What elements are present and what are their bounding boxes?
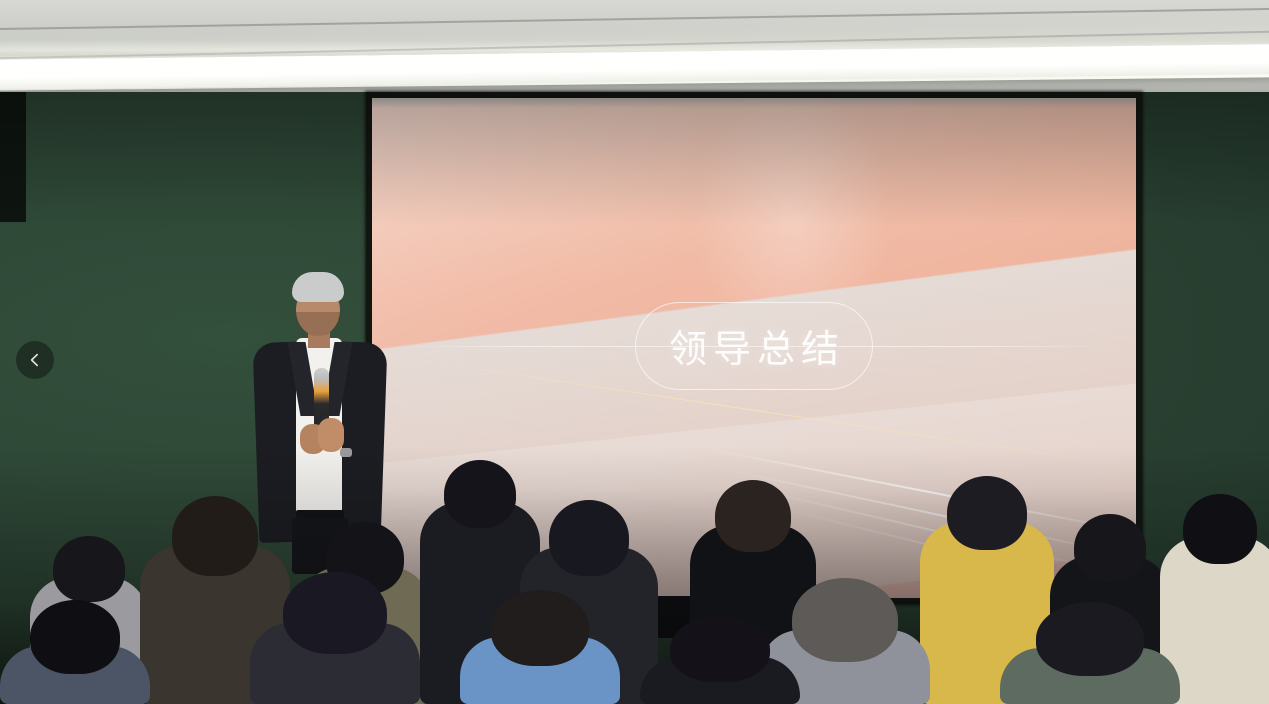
audience-member-head — [947, 476, 1027, 550]
audience-member-head — [1036, 602, 1144, 676]
audience-member-head — [715, 480, 791, 552]
ceiling-seam — [0, 8, 1269, 30]
audience-member — [250, 572, 420, 704]
chevron-left-icon — [27, 352, 43, 368]
audience-member-head — [670, 616, 770, 682]
audience-member — [0, 600, 150, 704]
audience-member-head — [1183, 494, 1257, 564]
audience-member-head — [283, 572, 387, 654]
audience-member-head — [444, 460, 516, 528]
audience-member — [640, 616, 800, 704]
audience-member — [1000, 602, 1180, 704]
ceiling — [0, 0, 1269, 96]
audience-member-head — [53, 536, 125, 602]
prev-button[interactable] — [16, 341, 54, 379]
audience-member-head — [30, 600, 120, 674]
audience-member-head — [792, 578, 898, 662]
audience-member-head — [1074, 514, 1146, 582]
audience-member-head — [549, 500, 629, 576]
audience-member — [460, 590, 620, 704]
screenshot-root: 领导总结 伟 — [0, 0, 1269, 704]
audience-member-head — [172, 496, 258, 576]
audience-member-head — [491, 590, 589, 666]
